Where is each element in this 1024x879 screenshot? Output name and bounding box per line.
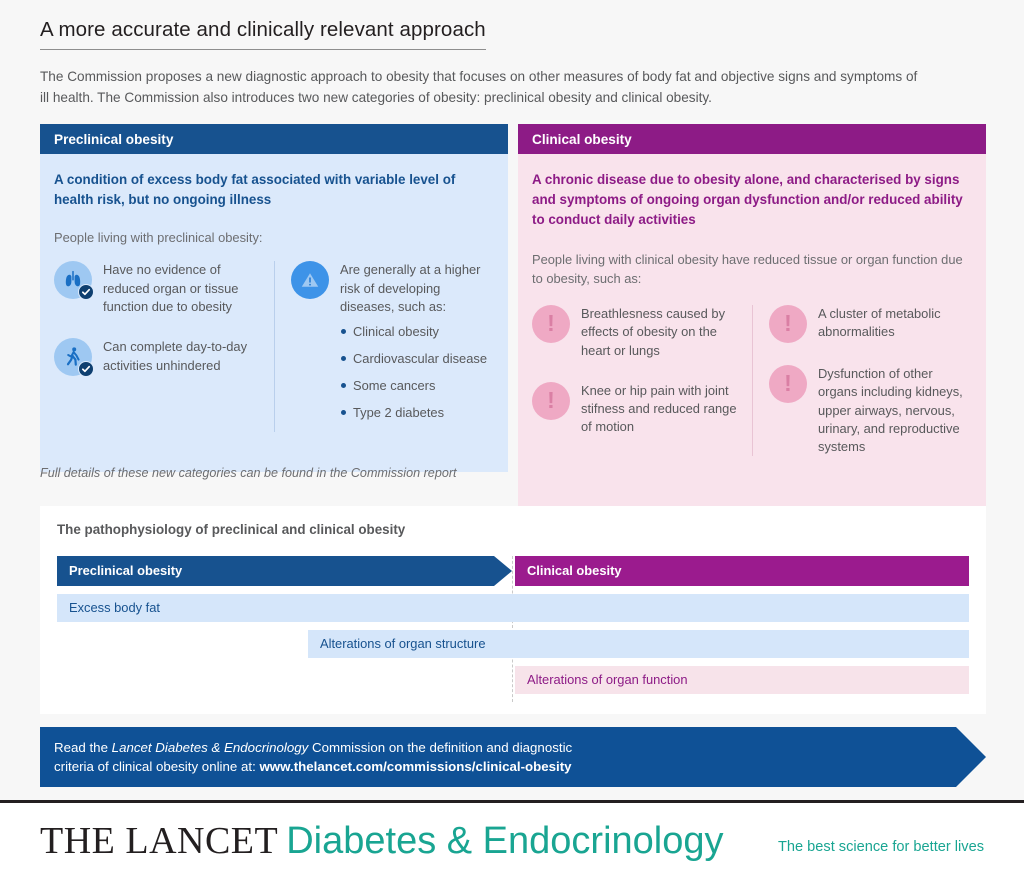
progress-bar-label: Alterations of organ function: [527, 666, 688, 694]
panel-clinical-definition: A chronic disease due to obesity alone, …: [532, 170, 972, 229]
list-item-label: A cluster of metabolic abnormalities: [818, 305, 972, 342]
risk-disease-list: Clinical obesity Cardiovascular disease …: [340, 323, 494, 422]
panel-preclinical-column-left: Have no evidence of reduced organ or tis…: [54, 261, 274, 431]
pathophysiology-timeline: Preclinical obesity Clinical obesity Exc…: [57, 556, 969, 702]
footer-tagline: The best science for better lives: [778, 839, 984, 855]
panel-clinical-body: A chronic disease due to obesity alone, …: [518, 154, 986, 510]
list-item-label: Have no evidence of reduced organ or tis…: [103, 261, 260, 316]
stage-bar-preclinical-label: Preclinical obesity: [69, 556, 182, 586]
cta-text: Read the Lancet Diabetes & Endocrinology…: [54, 738, 754, 777]
exclamation-glyph: !: [547, 389, 555, 412]
progress-bar-label: Alterations of organ structure: [320, 630, 486, 658]
list-item-label: Are generally at a higher risk of develo…: [340, 262, 480, 314]
panel-clinical-columns: ! Breathlesness caused by effects of obe…: [532, 305, 972, 457]
walking-person-icon: [54, 338, 92, 376]
page-title: A more accurate and clinically relevant …: [40, 18, 486, 50]
list-item: ! Breathlesness caused by effects of obe…: [532, 305, 738, 360]
progress-bar-excess-body-fat: Excess body fat: [57, 594, 969, 622]
cta-url[interactable]: www.thelancet.com/commissions/clinical-o…: [259, 759, 571, 774]
pathophysiology-title: The pathophysiology of preclinical and c…: [57, 522, 405, 537]
cta-journal-name: Lancet Diabetes & Endocrinology: [112, 740, 309, 755]
panel-preclinical-obesity: Preclinical obesity A condition of exces…: [40, 124, 508, 510]
panel-clinical-title: Clinical obesity: [532, 132, 632, 147]
panel-clinical-subhead: People living with clinical obesity have…: [532, 251, 972, 288]
pathophysiology-card: The pathophysiology of preclinical and c…: [40, 506, 986, 714]
cta-banner[interactable]: Read the Lancet Diabetes & Endocrinology…: [40, 727, 986, 787]
exclamation-glyph: !: [547, 312, 555, 335]
list-item: Have no evidence of reduced organ or tis…: [54, 261, 260, 316]
panel-preclinical-subhead: People living with preclinical obesity:: [54, 229, 494, 248]
stage-divider: [512, 556, 513, 702]
exclamation-icon: !: [532, 305, 570, 343]
logo-journal-wordmark: Diabetes & Endocrinology: [286, 820, 723, 862]
panel-clinical-column-left: ! Breathlesness caused by effects of obe…: [532, 305, 752, 457]
lungs-icon: [54, 261, 92, 299]
stage-bar-clinical-label: Clinical obesity: [527, 556, 622, 586]
list-item-label: Breathlesness caused by effects of obesi…: [581, 305, 738, 360]
exclamation-icon: !: [769, 305, 807, 343]
exclamation-icon: !: [769, 365, 807, 403]
list-item: Are generally at a higher risk of develo…: [291, 261, 494, 431]
progress-bar-organ-function: Alterations of organ function: [515, 666, 969, 694]
footer: THE LANCETDiabetes & Endocrinology The b…: [0, 803, 1024, 879]
panel-preclinical-body: A condition of excess body fat associate…: [40, 154, 508, 472]
check-badge-icon: [78, 284, 94, 300]
panel-preclinical-columns: Have no evidence of reduced organ or tis…: [54, 261, 494, 431]
list-item: Type 2 diabetes: [340, 404, 494, 422]
list-item: Cardiovascular disease: [340, 350, 494, 368]
exclamation-glyph: !: [784, 312, 792, 335]
stage-bar-clinical: Clinical obesity: [515, 556, 969, 586]
list-item: ! Knee or hip pain with joint stifness a…: [532, 382, 738, 437]
list-item: Can complete day-to-day activities unhin…: [54, 338, 260, 376]
list-item: Some cancers: [340, 377, 494, 395]
exclamation-icon: !: [532, 382, 570, 420]
panel-preclinical-column-right: Are generally at a higher risk of develo…: [274, 261, 494, 431]
cta-line2-prefix: criteria of clinical obesity online at:: [54, 759, 259, 774]
category-panels: Preclinical obesity A condition of exces…: [40, 124, 986, 510]
list-item-label: Dysfunction of other organs including ki…: [818, 365, 972, 457]
cta-line1-prefix: Read the: [54, 740, 112, 755]
progress-bar-organ-structure: Alterations of organ structure: [308, 630, 969, 658]
panel-clinical-header: Clinical obesity: [518, 124, 986, 154]
infographic-sheet: A more accurate and clinically relevant …: [0, 0, 1024, 879]
panel-preclinical-header: Preclinical obesity: [40, 124, 508, 154]
footnote: Full details of these new categories can…: [40, 466, 457, 480]
title-block: A more accurate and clinically relevant …: [40, 18, 986, 109]
panel-preclinical-title: Preclinical obesity: [54, 132, 173, 147]
intro-paragraph: The Commission proposes a new diagnostic…: [40, 66, 920, 109]
lancet-logo: THE LANCETDiabetes & Endocrinology: [40, 819, 724, 863]
panel-clinical-obesity: Clinical obesity A chronic disease due t…: [518, 124, 986, 510]
list-item: ! A cluster of metabolic abnormalities: [769, 305, 972, 343]
warning-triangle-icon: [291, 261, 329, 299]
check-badge-icon: [78, 361, 94, 377]
exclamation-glyph: !: [784, 372, 792, 395]
stage-bar-preclinical: Preclinical obesity: [57, 556, 512, 586]
list-item-label: Can complete day-to-day activities unhin…: [103, 338, 260, 375]
list-item: Clinical obesity: [340, 323, 494, 341]
list-item-label: Knee or hip pain with joint stifness and…: [581, 382, 738, 437]
progress-bar-label: Excess body fat: [69, 594, 160, 622]
panel-preclinical-definition: A condition of excess body fat associate…: [54, 170, 494, 210]
list-item: ! Dysfunction of other organs including …: [769, 365, 972, 457]
panel-clinical-column-right: ! A cluster of metabolic abnormalities !…: [752, 305, 972, 457]
logo-lancet-wordmark: THE LANCET: [40, 820, 278, 862]
cta-line1-suffix: Commission on the definition and diagnos…: [308, 740, 572, 755]
